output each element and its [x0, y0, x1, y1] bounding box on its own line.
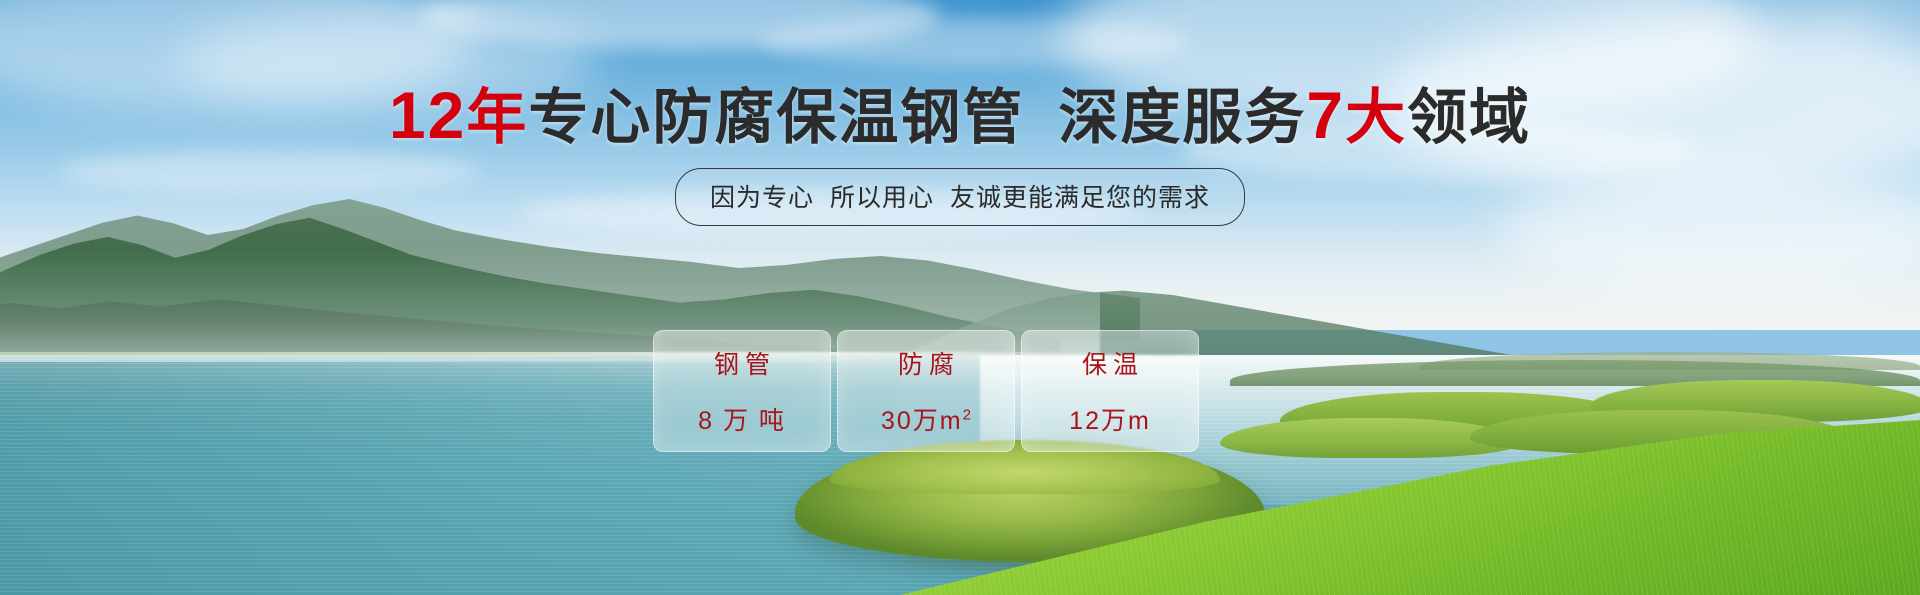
- stat-card-title: 防腐: [892, 345, 960, 381]
- stat-card-title: 钢管: [708, 345, 776, 381]
- subtitle-container: 因为专心所以用心友诚更能满足您的需求: [0, 168, 1920, 226]
- headline-years-number: 12: [389, 82, 466, 148]
- stat-card-value-text: 8 万 吨: [698, 407, 786, 435]
- headline-fields-unit: 大: [1345, 88, 1407, 148]
- subtitle-segment-2: 所以用心: [830, 184, 934, 212]
- banner-headline: 12年专心防腐保温钢管深度服务7大领域: [0, 82, 1920, 148]
- stat-card-value: 30万m2: [881, 401, 971, 437]
- subtitle-segment-1: 因为专心: [710, 184, 814, 212]
- stat-card-title: 保温: [1076, 345, 1144, 381]
- headline-years-unit: 年: [466, 88, 528, 148]
- headline-main-text: 专心防腐保温钢管: [528, 88, 1024, 148]
- subtitle-segment-3: 友诚更能满足您的需求: [950, 184, 1210, 212]
- stat-card[interactable]: 钢管 8 万 吨: [653, 330, 831, 452]
- subtitle-pill: 因为专心所以用心友诚更能满足您的需求: [675, 168, 1245, 226]
- headline-fields-number: 7: [1306, 82, 1345, 148]
- stat-card-group: 钢管 8 万 吨 防腐 30万m2 保温 12万m: [653, 330, 1199, 452]
- hero-banner: 12年专心防腐保温钢管深度服务7大领域 因为专心所以用心友诚更能满足您的需求 钢…: [0, 0, 1920, 595]
- stat-card-value: 8 万 吨: [698, 401, 786, 437]
- stat-card[interactable]: 防腐 30万m2: [837, 330, 1015, 452]
- stat-card-value: 12万m: [1069, 401, 1151, 437]
- stat-card[interactable]: 保温 12万m: [1021, 330, 1199, 452]
- headline-fields-text: 领域: [1407, 88, 1531, 148]
- headline-service-text: 深度服务: [1058, 88, 1306, 148]
- stat-card-value-superscript: 2: [963, 407, 971, 424]
- stat-card-value-text: 30万m: [881, 407, 963, 435]
- stat-card-value-text: 12万m: [1069, 407, 1151, 435]
